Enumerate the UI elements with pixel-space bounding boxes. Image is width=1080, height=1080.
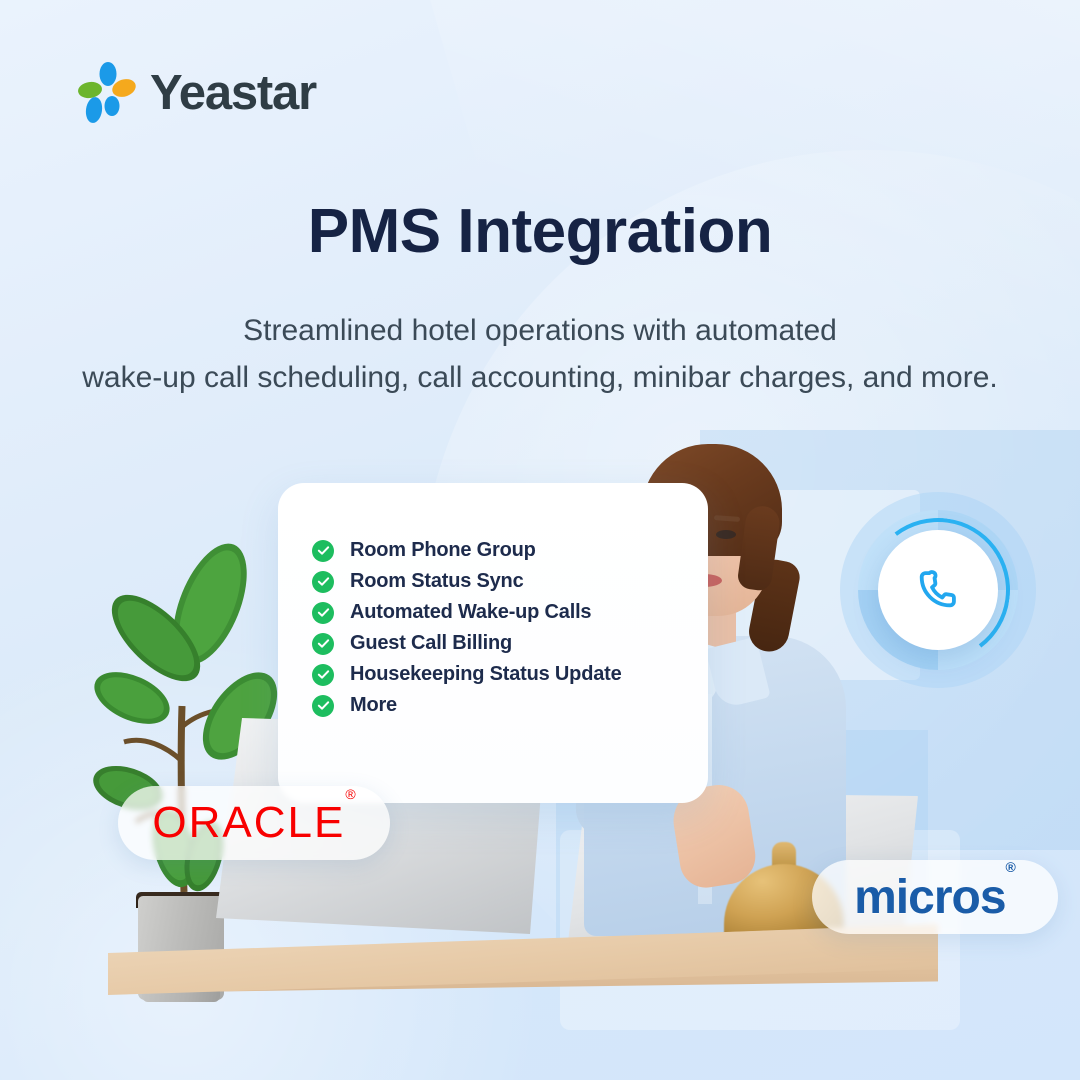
partner-badge-oracle[interactable]: ORACLE® bbox=[118, 786, 390, 860]
feature-card: Room Phone Group Room Status Sync Automa… bbox=[278, 483, 708, 803]
check-circle-icon bbox=[312, 633, 334, 655]
micros-registered-mark: ® bbox=[1006, 859, 1016, 875]
list-item[interactable]: Room Status Sync bbox=[312, 566, 622, 597]
partner-badge-micros[interactable]: micros® bbox=[812, 860, 1058, 934]
list-item[interactable]: Guest Call Billing bbox=[312, 628, 622, 659]
check-circle-icon bbox=[312, 571, 334, 593]
subtitle-line-2: wake-up call scheduling, call accounting… bbox=[0, 355, 1080, 402]
oracle-wordmark: ORACLE® bbox=[152, 798, 355, 848]
person-eye-right bbox=[716, 530, 736, 539]
hero-illustration: Room Phone Group Room Status Sync Automa… bbox=[0, 400, 1080, 1080]
feature-list: Room Phone Group Room Status Sync Automa… bbox=[312, 535, 622, 721]
list-item[interactable]: Automated Wake-up Calls bbox=[312, 597, 622, 628]
brand-wordmark: Yeastar bbox=[150, 65, 316, 121]
micros-label: micros bbox=[854, 871, 1005, 924]
list-item[interactable]: Housekeeping Status Update bbox=[312, 659, 622, 690]
feature-label: Guest Call Billing bbox=[350, 632, 512, 655]
feature-label: Room Phone Group bbox=[350, 539, 536, 562]
list-item[interactable]: More bbox=[312, 690, 622, 721]
micros-wordmark: micros® bbox=[854, 870, 1016, 925]
promo-banner: Yeastar PMS Integration Streamlined hote… bbox=[0, 0, 1080, 1080]
check-circle-icon bbox=[312, 540, 334, 562]
feature-label: Room Status Sync bbox=[350, 570, 524, 593]
list-item[interactable]: Room Phone Group bbox=[312, 535, 622, 566]
check-circle-icon bbox=[312, 602, 334, 624]
brand-logo[interactable]: Yeastar bbox=[78, 62, 316, 124]
feature-label: Automated Wake-up Calls bbox=[350, 601, 591, 624]
phone-badge[interactable] bbox=[878, 530, 998, 650]
page-subtitle: Streamlined hotel operations with automa… bbox=[0, 308, 1080, 401]
check-circle-icon bbox=[312, 664, 334, 686]
check-circle-icon bbox=[312, 695, 334, 717]
oracle-label: ORACLE bbox=[152, 798, 345, 847]
feature-label: More bbox=[350, 694, 397, 717]
yeastar-flower-logo-icon bbox=[78, 62, 136, 124]
oracle-registered-mark: ® bbox=[345, 786, 355, 802]
phone-handset-icon bbox=[915, 567, 961, 613]
subtitle-line-1: Streamlined hotel operations with automa… bbox=[0, 308, 1080, 355]
feature-label: Housekeeping Status Update bbox=[350, 663, 622, 686]
page-title: PMS Integration bbox=[0, 196, 1080, 267]
